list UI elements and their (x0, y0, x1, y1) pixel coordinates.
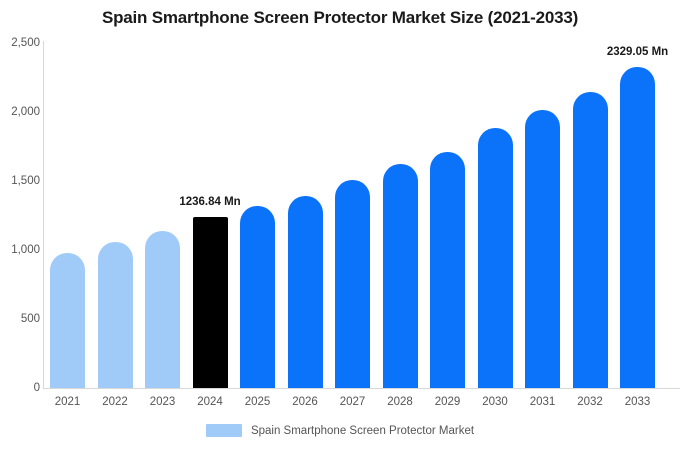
bar-rect-2028[interactable] (383, 164, 418, 388)
bar-rect-2024[interactable] (193, 217, 228, 388)
legend-swatch (206, 424, 242, 437)
x-axis-tick-label-2033: 2033 (614, 396, 662, 408)
bar-value-label-2033: 2329.05 Mn (607, 46, 668, 58)
x-axis-tick-label-2031: 2031 (519, 396, 567, 408)
bar-2021[interactable] (50, 0, 85, 388)
bar-2030[interactable] (478, 0, 513, 388)
bar-2023[interactable] (145, 0, 180, 388)
bar-rect-2023[interactable] (145, 231, 180, 388)
bar-rect-2033[interactable] (620, 67, 655, 388)
bar-value-label-2024: 1236.84 Mn (179, 196, 240, 208)
bar-rect-2027[interactable] (335, 180, 370, 388)
bar-2025[interactable] (240, 0, 275, 388)
bar-2027[interactable] (335, 0, 370, 388)
x-axis-tick-label-2022: 2022 (91, 396, 139, 408)
x-axis-tick-label-2032: 2032 (566, 396, 614, 408)
x-axis-tick-label-2026: 2026 (281, 396, 329, 408)
bar-2033[interactable] (620, 0, 655, 388)
bar-2024[interactable] (193, 0, 228, 388)
bar-2032[interactable] (573, 0, 608, 388)
bar-2026[interactable] (288, 0, 323, 388)
x-axis-tick-label-2024: 2024 (186, 396, 234, 408)
bar-rect-2026[interactable] (288, 196, 323, 388)
x-axis-tick-label-2021: 2021 (44, 396, 92, 408)
x-axis-tick-label-2030: 2030 (471, 396, 519, 408)
bar-rect-2032[interactable] (573, 92, 608, 388)
bar-2022[interactable] (98, 0, 133, 388)
bar-rect-2021[interactable] (50, 253, 85, 388)
x-axis-tick-label-2023: 2023 (139, 396, 187, 408)
bar-rect-2022[interactable] (98, 242, 133, 388)
x-axis-tick-label-2027: 2027 (329, 396, 377, 408)
bar-2029[interactable] (430, 0, 465, 388)
chart-container: Spain Smartphone Screen Protector Market… (0, 0, 680, 450)
x-axis-tick-label-2029: 2029 (424, 396, 472, 408)
bar-2028[interactable] (383, 0, 418, 388)
bar-2031[interactable] (525, 0, 560, 388)
x-axis-tick-label-2028: 2028 (376, 396, 424, 408)
bars-layer (0, 0, 680, 388)
bar-rect-2025[interactable] (240, 206, 275, 388)
bar-rect-2029[interactable] (430, 152, 465, 388)
bar-rect-2031[interactable] (525, 110, 560, 388)
x-axis-line (43, 388, 680, 389)
legend-label: Spain Smartphone Screen Protector Market (251, 425, 474, 437)
x-axis-tick-label-2025: 2025 (234, 396, 282, 408)
chart-legend: Spain Smartphone Screen Protector Market (0, 424, 680, 437)
bar-rect-2030[interactable] (478, 128, 513, 388)
